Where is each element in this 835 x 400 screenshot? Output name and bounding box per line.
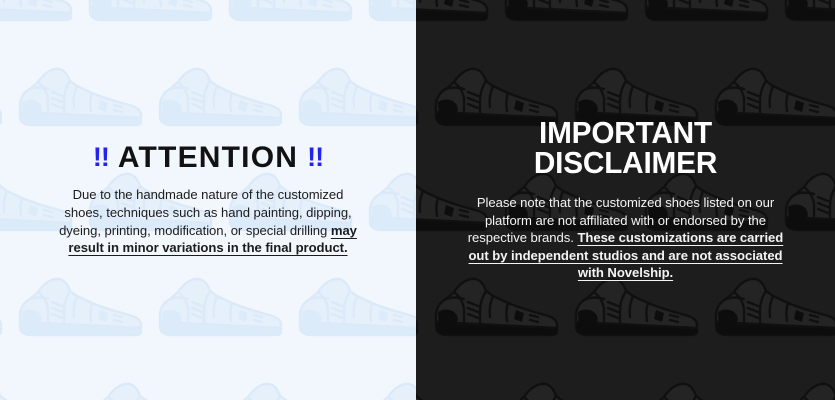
sneaker-icon [570, 272, 702, 344]
sneaker-icon [220, 0, 360, 45]
sneaker-pattern-row [416, 360, 835, 400]
disclaimer-heading-line-2: DISCLAIMER [424, 148, 826, 178]
sneaker-icon [290, 255, 416, 360]
sneaker-icon [294, 62, 416, 134]
disclaimer-content: IMPORTANT DISCLAIMER Please note that th… [416, 118, 835, 282]
sneaker-icon [150, 255, 290, 360]
sneaker-icon [154, 62, 286, 134]
sneaker-icon [80, 0, 220, 45]
attention-heading: !!ATTENTION!! [0, 143, 416, 173]
sneaker-icon [430, 272, 562, 344]
sneaker-icon [224, 377, 356, 400]
sneaker-icon [290, 45, 416, 150]
attention-panel: !!ATTENTION!! Due to the handmade nature… [0, 0, 416, 400]
sneaker-icon [224, 0, 356, 29]
sneaker-icon [416, 272, 422, 344]
sneaker-icon [636, 0, 776, 45]
sneaker-icon [416, 360, 496, 400]
sneaker-icon [496, 0, 636, 45]
attention-body-normal: Due to the handmade nature of the custom… [59, 187, 352, 237]
sneaker-icon [0, 377, 76, 400]
sneaker-icon [220, 360, 360, 400]
sneaker-icon [776, 360, 835, 400]
sneaker-pattern-row [416, 0, 835, 45]
dual-notice-banner: !!ATTENTION!! Due to the handmade nature… [0, 0, 835, 400]
sneaker-icon [154, 272, 286, 344]
sneaker-icon [294, 272, 416, 344]
sneaker-icon [780, 377, 835, 400]
disclaimer-body: Please note that the customized shoes li… [467, 194, 785, 282]
sneaker-icon [0, 360, 80, 400]
attention-body: Due to the handmade nature of the custom… [55, 186, 361, 256]
sneaker-icon [360, 0, 416, 45]
sneaker-icon [500, 0, 632, 29]
sneaker-icon [364, 377, 416, 400]
sneaker-icon [10, 255, 150, 360]
sneaker-icon [500, 377, 632, 400]
sneaker-icon [416, 0, 492, 29]
double-exclamation-right-icon: !! [307, 142, 323, 172]
attention-content: !!ATTENTION!! Due to the handmade nature… [0, 143, 416, 256]
sneaker-icon [710, 272, 835, 344]
sneaker-icon [0, 272, 6, 344]
sneaker-icon [780, 0, 835, 29]
sneaker-icon [0, 0, 80, 45]
sneaker-icon [416, 377, 492, 400]
sneaker-icon [0, 255, 10, 360]
sneaker-icon [640, 377, 772, 400]
sneaker-icon [14, 272, 146, 344]
sneaker-icon [0, 45, 10, 150]
sneaker-icon [84, 377, 216, 400]
sneaker-icon [416, 0, 496, 45]
sneaker-pattern-row [0, 255, 416, 360]
disclaimer-panel: IMPORTANT DISCLAIMER Please note that th… [416, 0, 835, 400]
sneaker-pattern-row [0, 45, 416, 150]
sneaker-icon [0, 0, 76, 29]
disclaimer-heading: IMPORTANT DISCLAIMER [424, 118, 826, 178]
disclaimer-heading-line-1: IMPORTANT [424, 118, 826, 148]
sneaker-icon [636, 360, 776, 400]
sneaker-pattern-row [0, 360, 416, 400]
sneaker-icon [84, 0, 216, 29]
sneaker-icon [640, 0, 772, 29]
sneaker-icon [496, 360, 636, 400]
attention-title: ATTENTION [118, 141, 298, 174]
sneaker-icon [364, 0, 416, 29]
sneaker-icon [360, 360, 416, 400]
sneaker-icon [150, 45, 290, 150]
sneaker-icon [0, 62, 6, 134]
sneaker-icon [14, 62, 146, 134]
sneaker-icon [10, 45, 150, 150]
sneaker-icon [80, 360, 220, 400]
sneaker-icon [776, 0, 835, 45]
double-exclamation-left-icon: !! [93, 142, 109, 172]
sneaker-pattern-row [0, 0, 416, 45]
